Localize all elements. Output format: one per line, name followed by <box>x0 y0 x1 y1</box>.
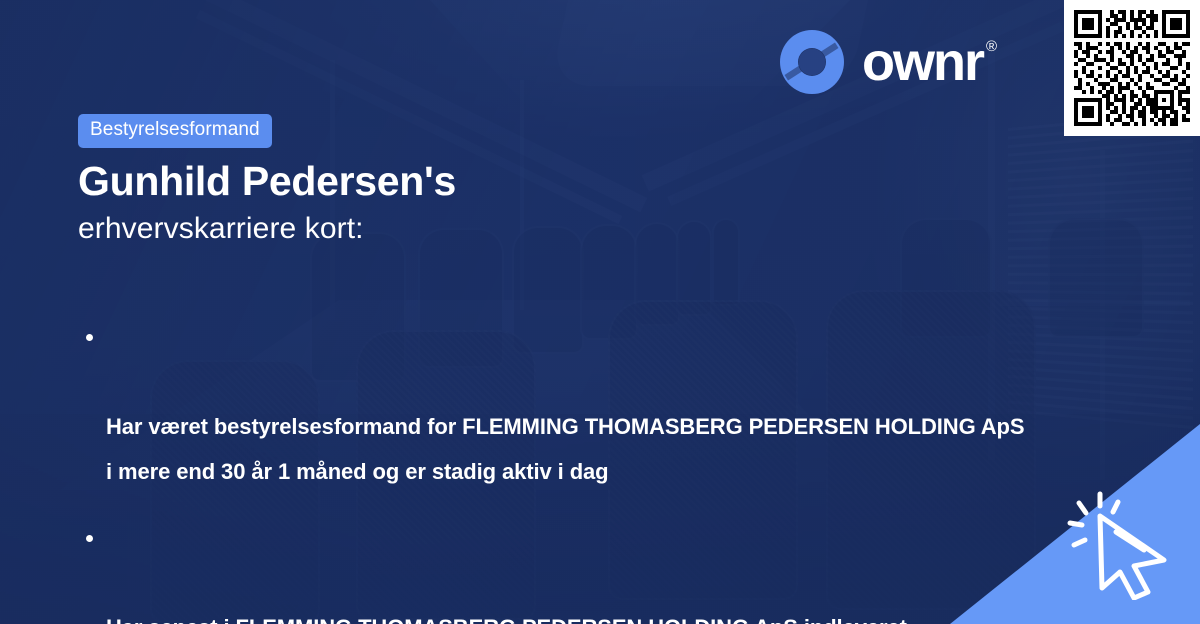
qr-code-icon <box>1074 10 1190 126</box>
list-item-text: Har været bestyrelsesformand for FLEMMIN… <box>106 414 1024 484</box>
business-career-card: Bestyrelsesformand Gunhild Pedersen's er… <box>0 0 1200 624</box>
page-title: Gunhild Pedersen's <box>78 158 456 205</box>
list-item-text: Har senest i FLEMMING THOMASBERG PEDERSE… <box>106 615 907 624</box>
ownr-circle-swirl-icon <box>778 28 846 96</box>
qr-code[interactable] <box>1064 0 1200 136</box>
ownr-wordmark: ownr ® <box>862 35 997 89</box>
ownr-logo[interactable]: ownr ® <box>778 28 997 96</box>
bullet-dot-icon <box>86 334 93 341</box>
role-badge: Bestyrelsesformand <box>78 114 272 148</box>
page-subtitle: erhvervskarriere kort: <box>78 212 364 246</box>
list-item: Har været bestyrelsesformand for FLEMMIN… <box>78 314 1200 494</box>
bullet-dot-icon <box>86 535 93 542</box>
click-cursor-icon <box>1060 488 1178 600</box>
ownr-wordmark-text: ownr <box>862 35 983 89</box>
registered-trademark-icon: ® <box>986 39 997 54</box>
